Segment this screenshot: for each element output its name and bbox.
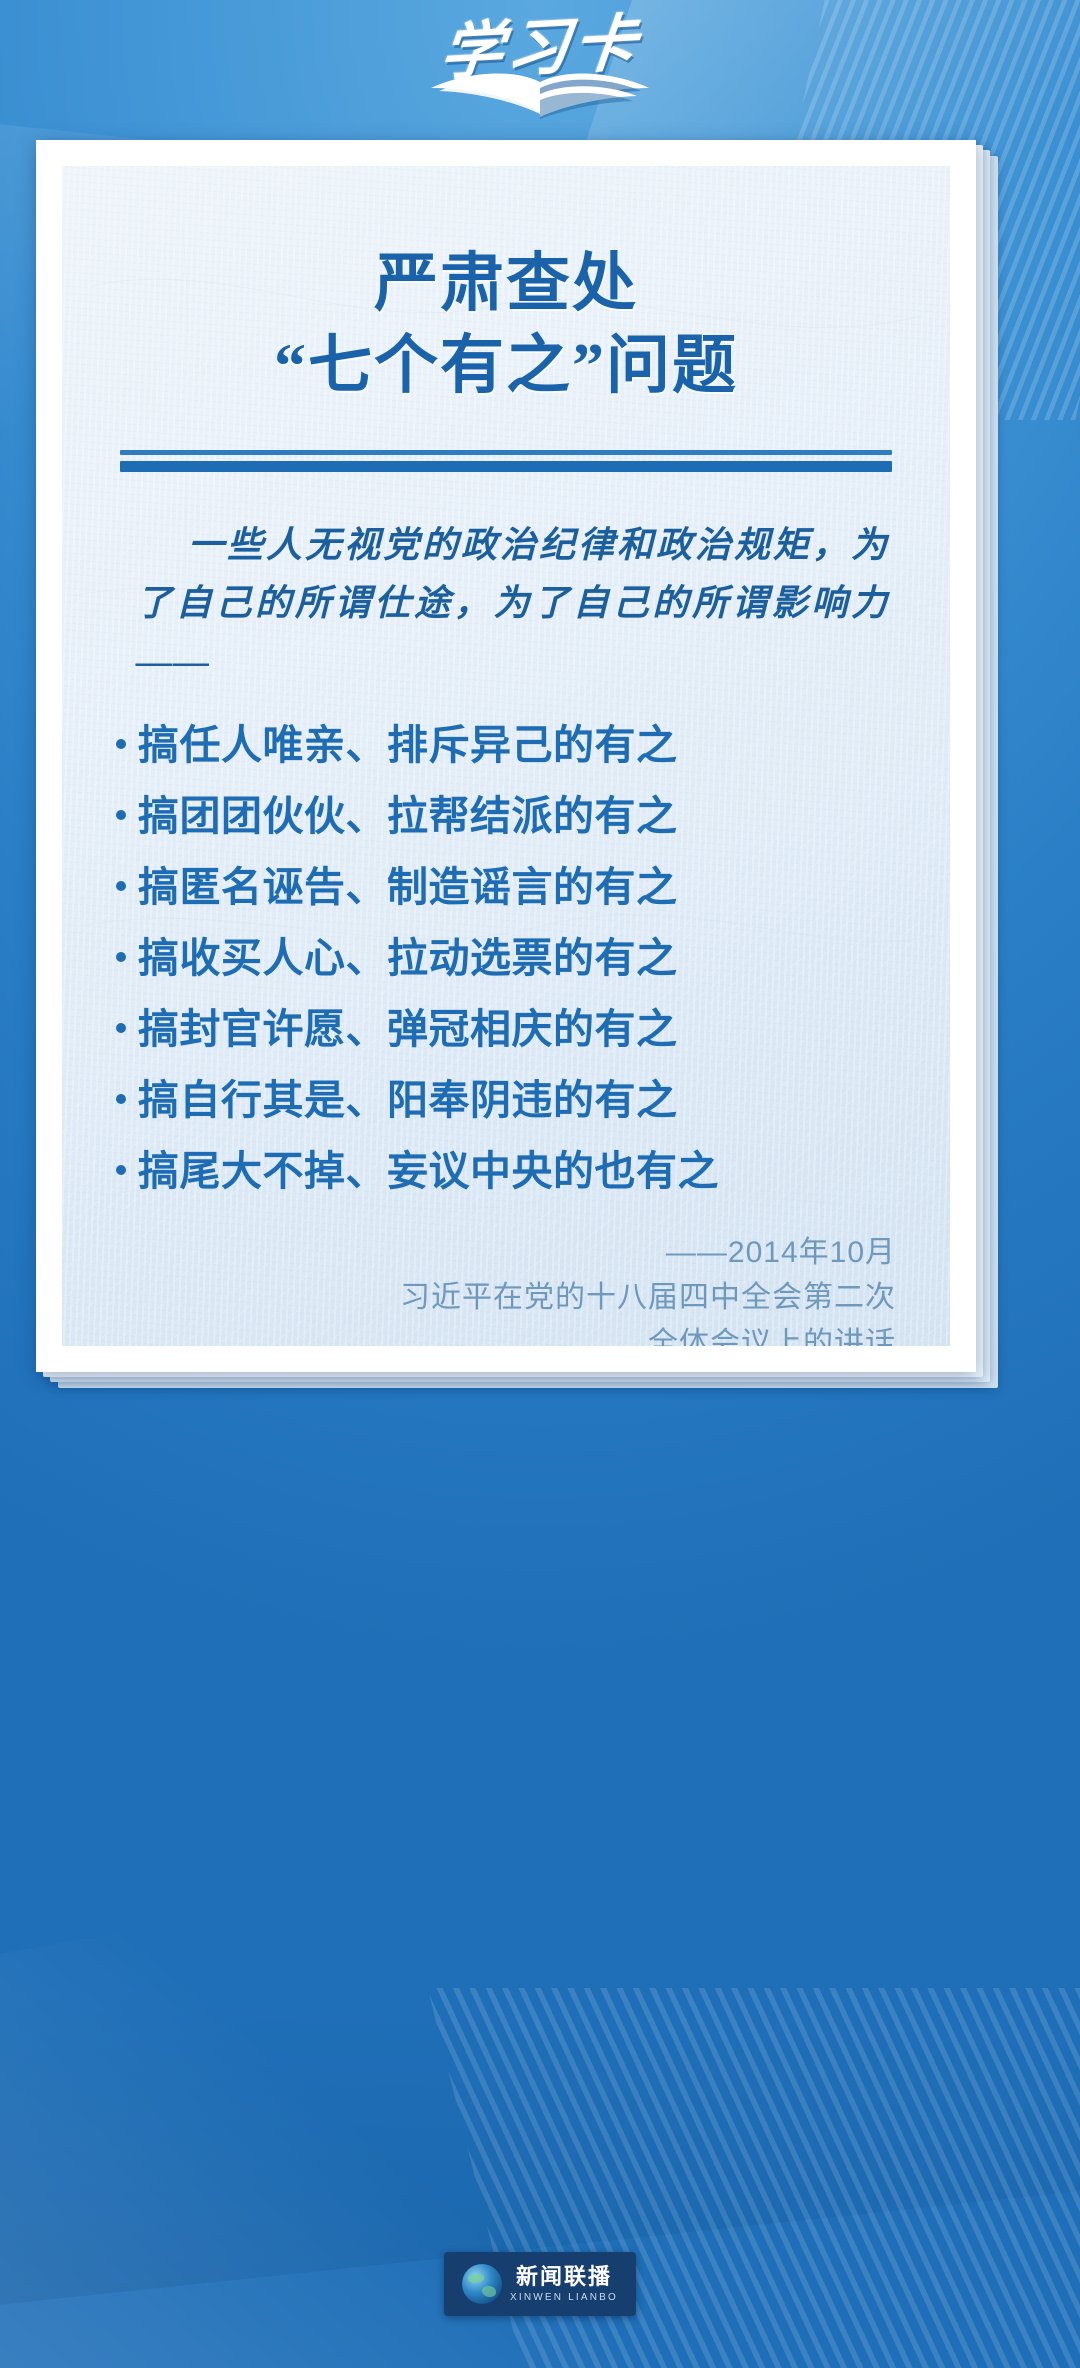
brand-masthead: 学习卡 — [0, 18, 1080, 138]
badge-name-cn: 新闻联播 — [516, 2266, 612, 2288]
headline-line-1: 严肃查处 — [374, 248, 638, 319]
attribution-source-2: 全体会议上的讲话 — [106, 1321, 896, 1346]
bullet-dot-icon — [116, 810, 126, 820]
poster-root: 学习卡 — [0, 0, 1080, 2368]
list-item: 搞自行其是、阳奉阴违的有之 — [112, 1080, 906, 1121]
bullet-text: 搞任人唯亲、排斥异己的有之 — [138, 725, 906, 766]
bullet-text: 搞尾大不掉、妄议中央的也有之 — [138, 1151, 906, 1192]
list-item: 搞匿名诬告、制造谣言的有之 — [112, 867, 906, 908]
divider-rule-thin — [120, 450, 892, 455]
globe-icon — [462, 2264, 502, 2304]
bullet-dot-icon — [116, 1094, 126, 1104]
badge-label-group: 新闻联播 XINWEN LIANBO — [510, 2266, 618, 2303]
bullet-text: 搞收买人心、拉动选票的有之 — [138, 938, 906, 979]
list-item: 搞尾大不掉、妄议中央的也有之 — [112, 1151, 906, 1192]
card-paper-surface: 严肃查处 “七个有之”问题 一些人无视党的政治纪律和政治规矩，为了自己的所谓仕途… — [62, 166, 950, 1346]
open-book-icon — [425, 68, 655, 120]
title-divider — [120, 450, 892, 472]
bullet-text: 搞匿名诬告、制造谣言的有之 — [138, 867, 906, 908]
quote-attribution: ——2014年10月 习近平在党的十八届四中全会第二次 全体会议上的讲话 — [106, 1230, 906, 1347]
card-content: 严肃查处 “七个有之”问题 一些人无视党的政治纪律和政治规矩，为了自己的所谓仕途… — [62, 166, 950, 1346]
quote-bullet-list: 搞任人唯亲、排斥异己的有之 搞团团伙伙、拉帮结派的有之 搞匿名诬告、制造谣言的有… — [112, 725, 906, 1192]
bullet-dot-icon — [116, 881, 126, 891]
list-item: 搞封官许愿、弹冠相庆的有之 — [112, 1009, 906, 1050]
broadcaster-badge: 新闻联播 XINWEN LIANBO — [444, 2252, 636, 2316]
intro-paragraph: 一些人无视党的政治纪律和政治规矩，为了自己的所谓仕途，为了自己的所谓影响力—— — [136, 516, 888, 691]
bullet-text: 搞自行其是、阳奉阴违的有之 — [138, 1080, 906, 1121]
bullet-dot-icon — [116, 952, 126, 962]
list-item: 搞团团伙伙、拉帮结派的有之 — [112, 796, 906, 837]
bullet-dot-icon — [116, 739, 126, 749]
list-item: 搞任人唯亲、排斥异己的有之 — [112, 725, 906, 766]
card-stack: 严肃查处 “七个有之”问题 一些人无视党的政治纪律和政治规矩，为了自己的所谓仕途… — [36, 140, 1044, 1376]
bullet-text: 搞团团伙伙、拉帮结派的有之 — [138, 796, 906, 837]
attribution-source-1: 习近平在党的十八届四中全会第二次 — [106, 1275, 896, 1321]
badge-name-en: XINWEN LIANBO — [510, 2293, 618, 2303]
page-title: 严肃查处 “七个有之”问题 — [106, 243, 906, 407]
list-item: 搞收买人心、拉动选票的有之 — [112, 938, 906, 979]
headline-line-2: “七个有之”问题 — [106, 325, 906, 407]
attribution-date: ——2014年10月 — [106, 1230, 896, 1276]
background-shadow-band-bottom — [0, 1885, 1080, 2311]
bullet-dot-icon — [116, 1023, 126, 1033]
bullet-text: 搞封官许愿、弹冠相庆的有之 — [138, 1009, 906, 1050]
divider-rule-thick — [120, 461, 892, 472]
bullet-dot-icon — [116, 1165, 126, 1175]
content-card: 严肃查处 “七个有之”问题 一些人无视党的政治纪律和政治规矩，为了自己的所谓仕途… — [36, 140, 976, 1372]
